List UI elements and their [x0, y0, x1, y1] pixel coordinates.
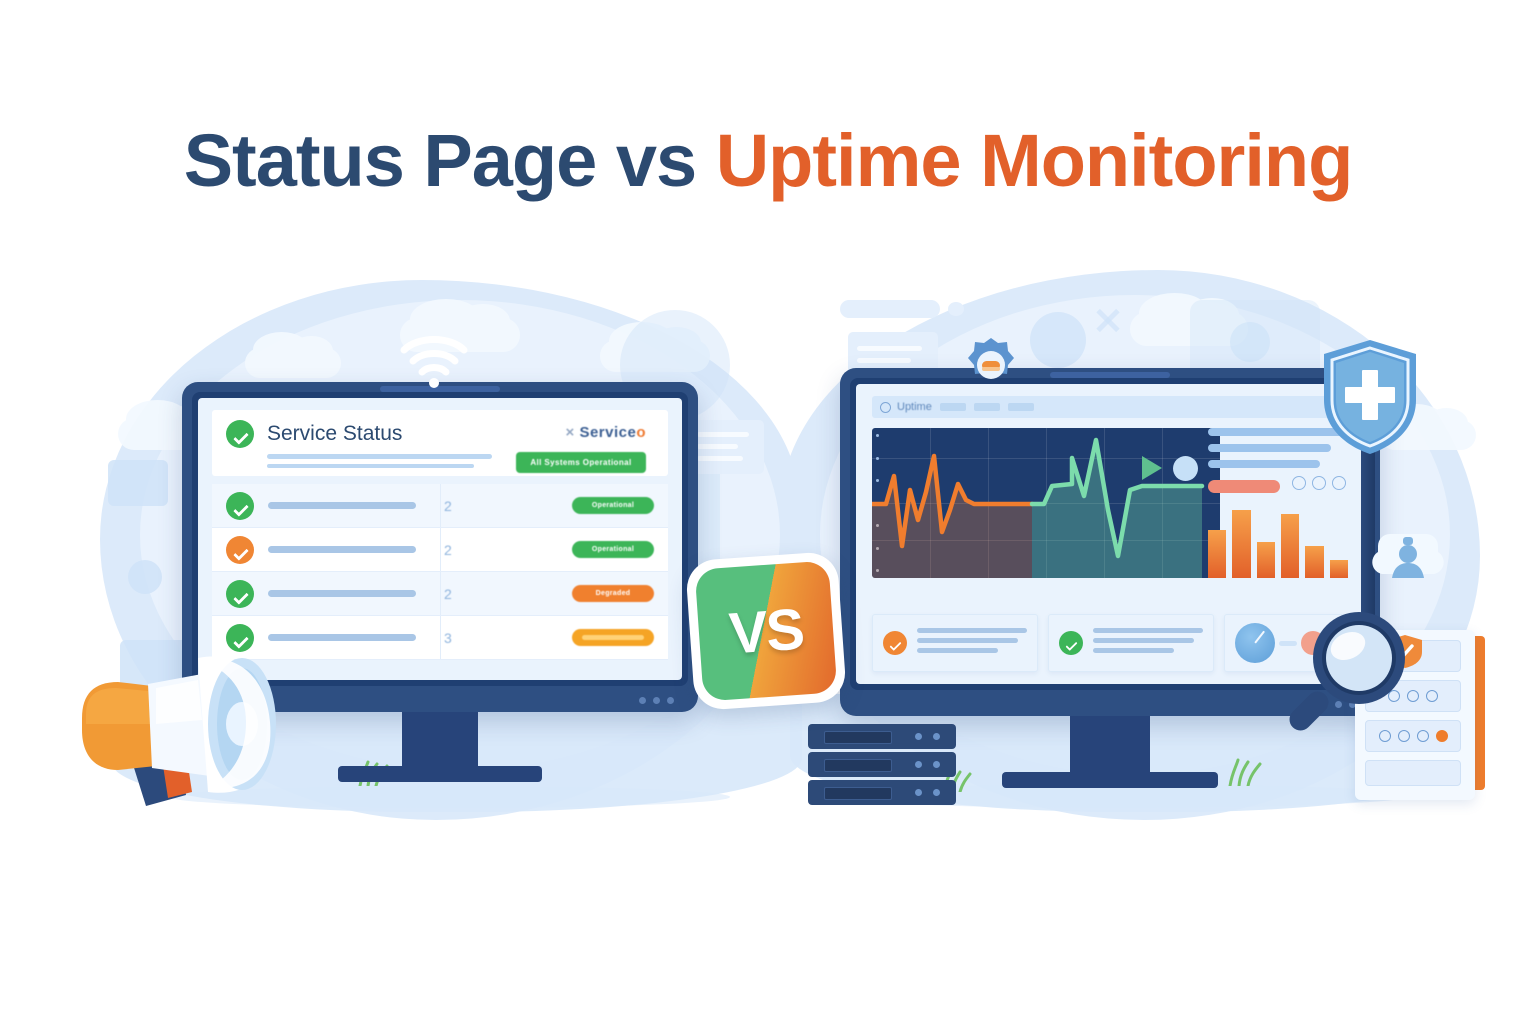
side-panel-row — [1208, 476, 1348, 498]
status-badge[interactable]: Degraded — [572, 585, 654, 602]
shape-decoration — [108, 460, 168, 506]
header-text-placeholder — [267, 454, 492, 473]
doc-decoration — [690, 420, 764, 474]
circle-indicator — [1173, 456, 1198, 481]
title-connector: vs — [596, 119, 715, 202]
check-circle-icon — [226, 420, 254, 448]
status-page-logo: × Serviceo — [566, 424, 647, 441]
play-icon[interactable] — [1142, 456, 1162, 480]
vs-badge-label: VS — [685, 551, 847, 711]
topbar-placeholder — [940, 403, 966, 411]
column-divider — [440, 484, 441, 527]
status-badge[interactable]: Operational — [572, 541, 654, 558]
monitor-stand-neck — [402, 712, 478, 768]
check-circle-icon — [226, 536, 254, 564]
check-circle-icon — [883, 631, 907, 655]
topbar-placeholder — [1008, 403, 1034, 411]
gear-icon — [1230, 322, 1270, 362]
incident-bar-chart — [1208, 502, 1348, 578]
row-count: 2 — [444, 586, 452, 602]
gear-icon — [962, 336, 1020, 394]
title-dark-part: Status Page — [184, 119, 597, 202]
title-accent-part: Uptime Monitoring — [716, 119, 1353, 202]
megaphone-icon — [60, 620, 325, 820]
row-count: 2 — [444, 542, 452, 558]
monitor-camera-strip — [1050, 372, 1170, 378]
text-placeholder — [1208, 460, 1320, 468]
monitor-stand-base — [1002, 772, 1218, 788]
check-circle-icon — [1059, 631, 1083, 655]
column-divider — [440, 616, 441, 659]
page-title: Status Page vs Uptime Monitoring — [0, 118, 1536, 203]
grass-decoration — [1226, 758, 1266, 786]
monitor-stand-base — [338, 766, 542, 782]
row-count: 2 — [444, 498, 452, 514]
overall-status-pill[interactable]: All Systems Operational — [516, 452, 646, 473]
dashboard-status-cards — [872, 614, 1348, 672]
check-circle-icon — [226, 492, 254, 520]
text-placeholder — [1093, 628, 1203, 658]
status-badge[interactable]: Operational — [572, 497, 654, 514]
service-name-placeholder — [268, 502, 416, 509]
dashboard-topbar[interactable]: Uptime — [872, 396, 1348, 418]
dashboard-topbar-label: Uptime — [897, 401, 932, 413]
check-circle-icon — [226, 580, 254, 608]
row-count: 3 — [444, 630, 452, 646]
monitor-stand-neck — [1070, 716, 1150, 774]
column-divider — [440, 528, 441, 571]
doc-decoration — [840, 300, 940, 318]
response-time-chart — [872, 428, 1220, 578]
text-placeholder — [1208, 444, 1331, 452]
status-dot-icon — [880, 402, 891, 413]
vs-badge: VS — [690, 556, 842, 706]
speedometer-icon — [1235, 623, 1275, 663]
shape-decoration — [128, 560, 162, 594]
status-card[interactable] — [1048, 614, 1214, 672]
ring-indicators — [1292, 476, 1346, 490]
status-card[interactable] — [872, 614, 1038, 672]
user-badge-icon — [1372, 528, 1444, 594]
topbar-placeholder — [974, 403, 1000, 411]
column-divider — [440, 572, 441, 615]
chart-series — [872, 428, 1220, 578]
status-badge[interactable] — [572, 629, 654, 646]
shield-plus-icon — [1320, 338, 1420, 456]
status-page-title: Service Status — [267, 420, 402, 448]
illustration-canvas: Status Page vs Uptime Monitoring .title … — [0, 0, 1536, 1024]
service-name-placeholder — [268, 590, 416, 597]
doc-decoration — [948, 302, 964, 316]
cloud-decoration — [245, 348, 341, 378]
table-row[interactable]: 2 Operational — [212, 484, 668, 528]
status-page-header: Service Status × Serviceo All Systems Op… — [212, 410, 668, 476]
rack-slot — [1365, 760, 1461, 786]
table-row[interactable]: 2 Degraded — [212, 572, 668, 616]
monitor-indicator-dots — [639, 697, 674, 704]
service-name-placeholder — [268, 546, 416, 553]
wifi-icon — [396, 334, 472, 390]
table-row[interactable]: 2 Operational — [212, 528, 668, 572]
text-placeholder — [917, 628, 1027, 658]
gear-icon — [1030, 312, 1086, 368]
magnifier-icon[interactable] — [1282, 608, 1412, 743]
server-stack-icon — [808, 724, 956, 806]
alert-bar — [1208, 480, 1280, 493]
